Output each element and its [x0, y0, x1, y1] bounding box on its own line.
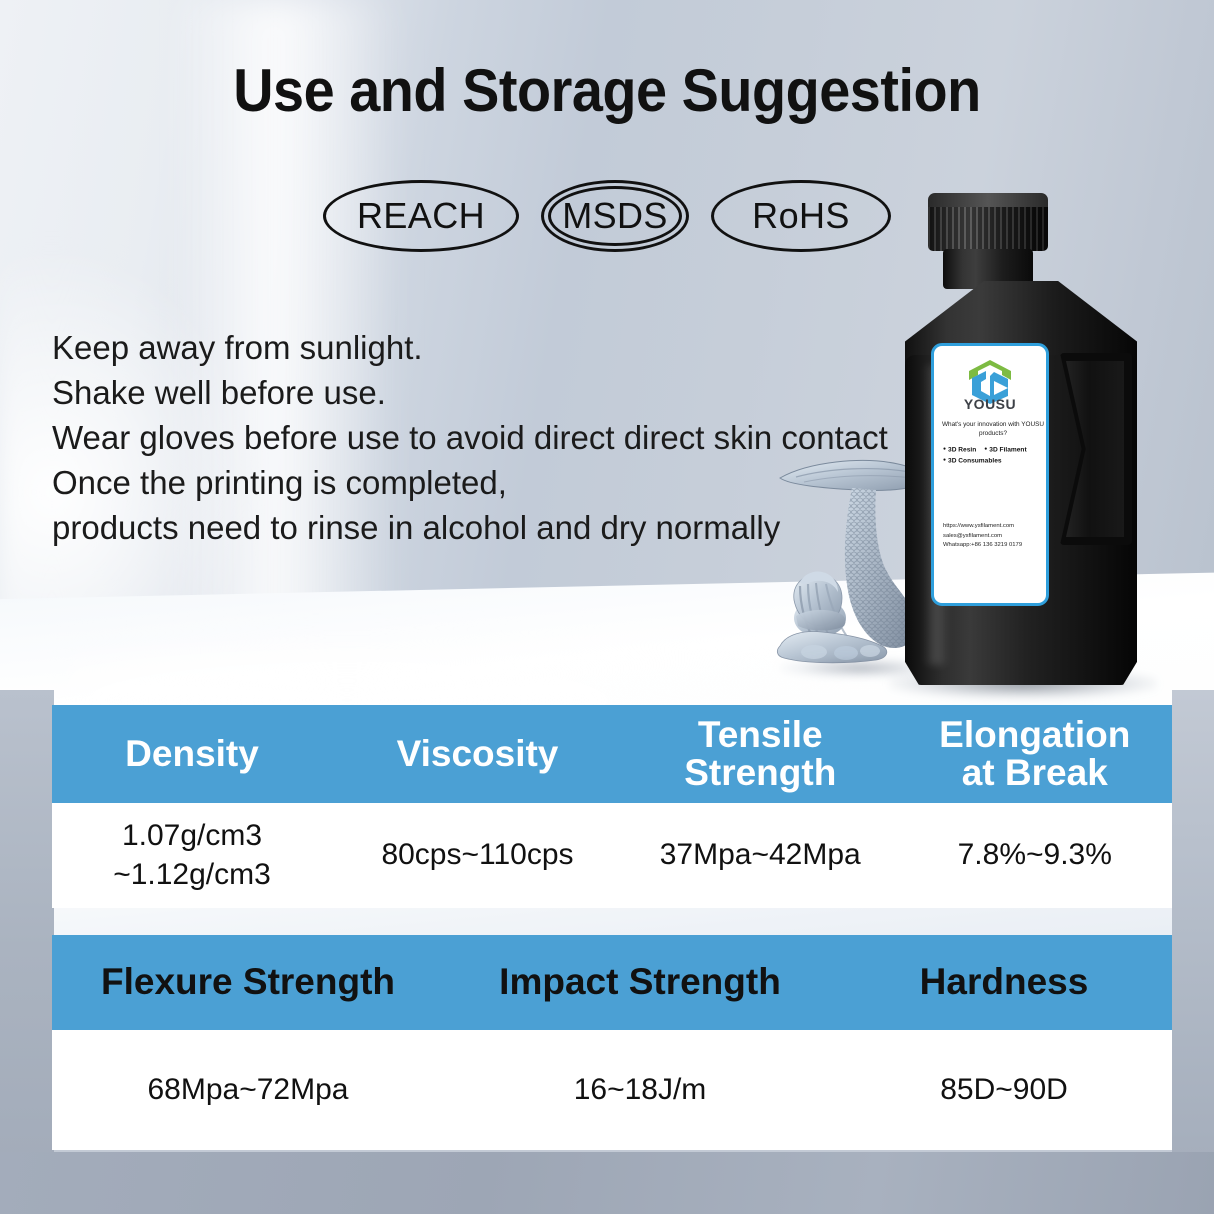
- value-tensile-strength: 37Mpa~42Mpa: [623, 803, 898, 908]
- header-elongation-at-break: Elongation at Break: [898, 705, 1173, 803]
- infographic-canvas: Use and Storage Suggestion REACH MSDS Ro…: [0, 0, 1214, 1214]
- badge-rohs: RoHS: [711, 180, 891, 252]
- spec-table-primary-header-row: Density Viscosity Tensile Strength Elong…: [52, 705, 1172, 803]
- value-viscosity: 80cps~110cps: [332, 803, 623, 908]
- label-contact-block: https://www.ysfilament.com sales@ysfilam…: [943, 522, 1049, 551]
- label-tagline: What's your innovation with YOUSU produc…: [940, 420, 1046, 438]
- background-left-strip: [0, 690, 54, 1160]
- instruction-line: Keep away from sunlight.: [52, 325, 902, 370]
- header-impact-strength: Impact Strength: [444, 935, 836, 1030]
- header-hardness: Hardness: [836, 935, 1172, 1030]
- label-bullet-list: 3D Resin 3D Filament 3D Consumables: [943, 444, 1047, 467]
- header-viscosity: Viscosity: [332, 705, 623, 803]
- badge-label: MSDS: [562, 195, 668, 237]
- header-tensile-strength: Tensile Strength: [623, 705, 898, 803]
- bullet-item: 3D Filament: [984, 444, 1026, 455]
- instruction-line: Shake well before use.: [52, 370, 902, 415]
- bottle-cap-top: [928, 193, 1048, 207]
- value-hardness: 85D~90D: [836, 1030, 1172, 1150]
- resin-bottle: YOUSU What's your innovation with YOUSU …: [895, 195, 1145, 695]
- bullet-item: 3D Resin: [943, 444, 976, 455]
- value-impact-strength: 16~18J/m: [444, 1030, 836, 1150]
- value-density: 1.07g/cm3 ~1.12g/cm3: [52, 803, 332, 908]
- bullet-row: 3D Resin 3D Filament: [943, 444, 1047, 455]
- badge-label: REACH: [357, 195, 485, 237]
- badge-label: RoHS: [752, 195, 850, 237]
- spec-table-secondary: Flexure Strength Impact Strength Hardnes…: [52, 935, 1172, 1150]
- value-flexure-strength: 68Mpa~72Mpa: [52, 1030, 444, 1150]
- label-website: https://www.ysfilament.com: [943, 522, 1049, 532]
- badge-reach: REACH: [323, 180, 519, 252]
- spec-table-primary-value-row: 1.07g/cm3 ~1.12g/cm3 80cps~110cps 37Mpa~…: [52, 803, 1172, 908]
- label-email: sales@ysfilament.com: [943, 532, 1049, 542]
- bullet-row: 3D Consumables: [943, 455, 1047, 466]
- spec-table-primary: Density Viscosity Tensile Strength Elong…: [52, 705, 1172, 908]
- spec-table-secondary-value-row: 68Mpa~72Mpa 16~18J/m 85D~90D: [52, 1030, 1172, 1150]
- bullet-item: 3D Consumables: [943, 455, 1002, 466]
- badge-msds: MSDS: [541, 180, 689, 252]
- label-whatsapp: Whatsapp:+86 136 3219 0179: [943, 541, 1049, 551]
- brand-wordmark: YOUSU: [934, 396, 1046, 412]
- background-bottom-band: [0, 1152, 1214, 1214]
- bottle-product-label: YOUSU What's your innovation with YOUSU …: [931, 343, 1049, 606]
- value-elongation-at-break: 7.8%~9.3%: [898, 803, 1173, 908]
- header-density: Density: [52, 705, 332, 803]
- page-title: Use and Storage Suggestion: [42, 56, 1171, 125]
- header-flexure-strength: Flexure Strength: [52, 935, 444, 1030]
- background-right-strip: [1172, 690, 1214, 1160]
- spec-table-secondary-header-row: Flexure Strength Impact Strength Hardnes…: [52, 935, 1172, 1030]
